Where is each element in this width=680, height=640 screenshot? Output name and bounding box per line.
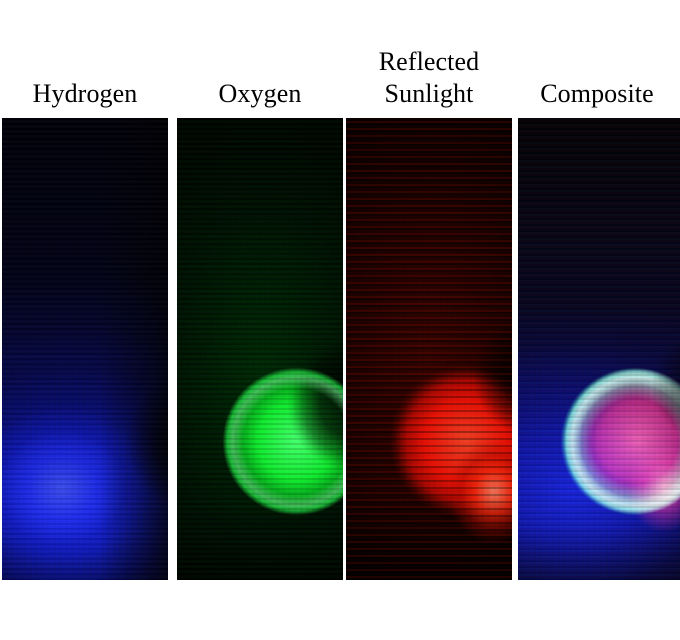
panel-reflected-sunlight xyxy=(346,118,512,580)
four-panel-figure: Hydrogen Oxygen Reflected Sunlight Compo… xyxy=(0,0,680,640)
panel-label-hydrogen: Hydrogen xyxy=(2,78,168,110)
panel-composite xyxy=(518,118,680,580)
panel-label-composite: Composite xyxy=(514,78,680,110)
sunlight-bottom-falloff xyxy=(346,118,512,580)
composite-top-falloff xyxy=(518,118,680,580)
panel-hydrogen xyxy=(2,118,168,580)
panel-oxygen xyxy=(177,118,343,580)
panel-label-oxygen: Oxygen xyxy=(177,78,343,110)
hydrogen-right-vignette xyxy=(2,118,168,580)
oxygen-outer-falloff xyxy=(177,118,343,580)
panel-label-reflected-sunlight: Reflected Sunlight xyxy=(346,46,512,110)
